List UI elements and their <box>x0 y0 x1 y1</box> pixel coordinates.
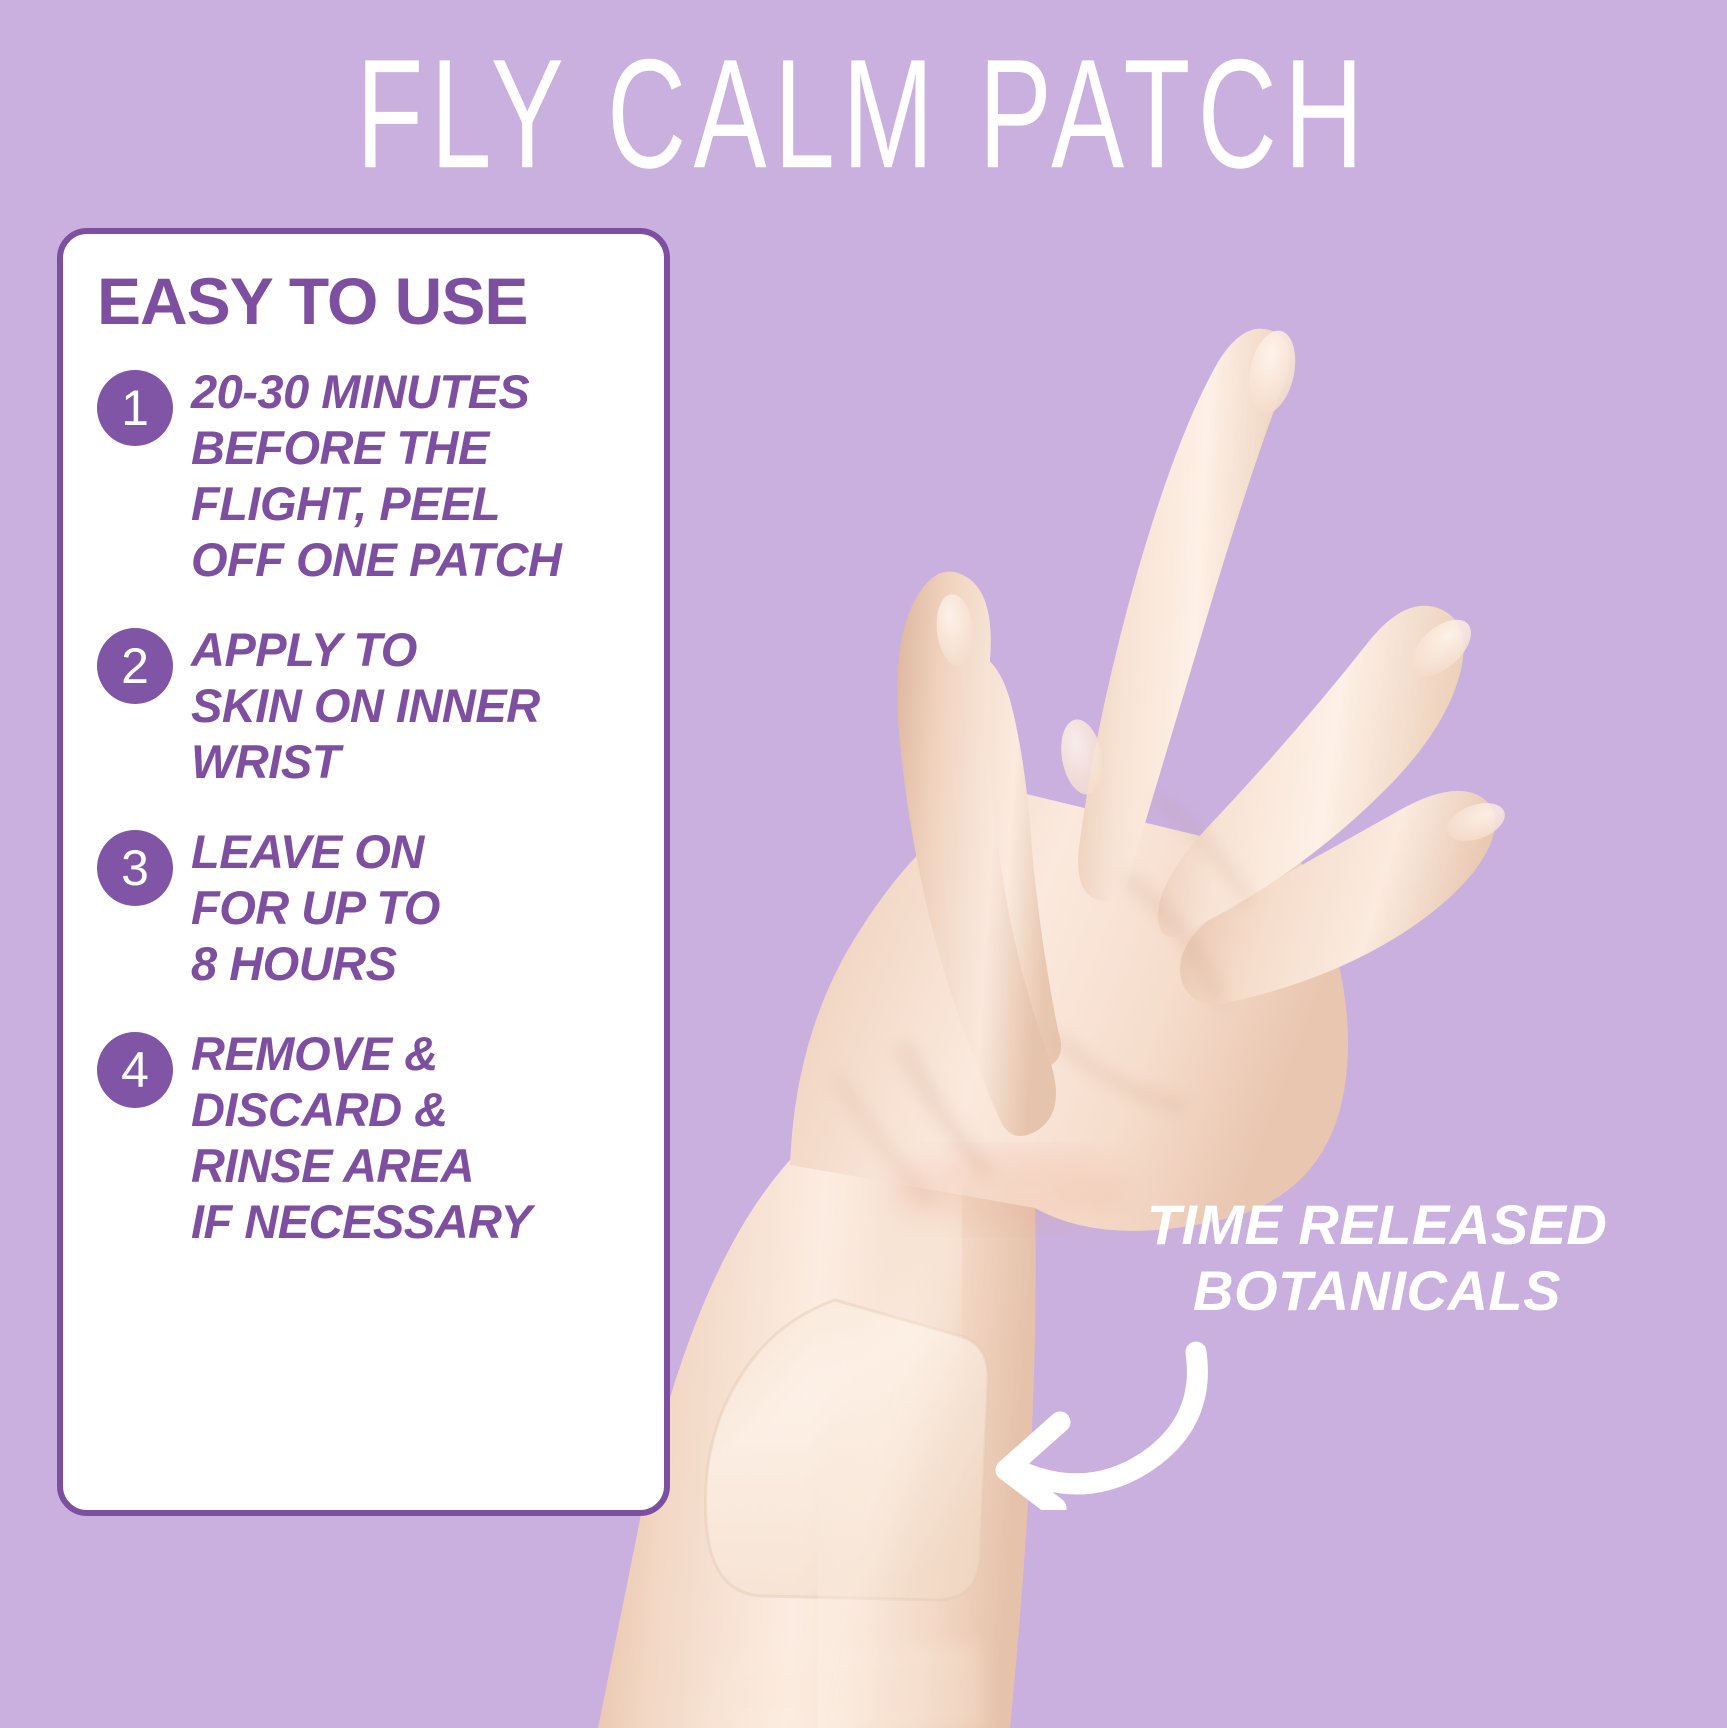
step-item-4: 4 REMOVE & DISCARD & RINSE AREA IF NECES… <box>97 1026 638 1250</box>
nail-pinky <box>1442 796 1510 848</box>
hand-shading <box>840 800 1248 1200</box>
step-text-1: 20-30 MINUTES BEFORE THE FLIGHT, PEEL OF… <box>191 364 561 588</box>
arm-highlight <box>830 1230 950 1728</box>
page-title: FLY CALM PATCH <box>225 36 1503 194</box>
step-item-1: 1 20-30 MINUTES BEFORE THE FLIGHT, PEEL … <box>97 364 638 588</box>
step-number-badge-2: 2 <box>97 628 173 704</box>
poster-root: FLY CALM PATCH EASY TO USE 1 20-30 MINUT… <box>0 0 1727 1728</box>
step-number-badge-3: 3 <box>97 830 173 906</box>
step-text-4: REMOVE & DISCARD & RINSE AREA IF NECESSA… <box>191 1026 532 1250</box>
wrist-patch <box>705 1300 988 1600</box>
curved-arrow-left-icon <box>960 1330 1220 1510</box>
step-item-2: 2 APPLY TO SKIN ON INNER WRIST <box>97 622 638 790</box>
thumb <box>897 572 1056 1137</box>
nail-ring <box>1401 609 1481 687</box>
step-number-badge-1: 1 <box>97 370 173 446</box>
step-text-3: LEAVE ON FOR UP TO 8 HOURS <box>191 824 440 992</box>
step-item-3: 3 LEAVE ON FOR UP TO 8 HOURS <box>97 824 638 992</box>
wrist-patch-lower <box>700 1640 985 1728</box>
instructions-card: EASY TO USE 1 20-30 MINUTES BEFORE THE F… <box>57 228 670 1516</box>
wrist-patch-edge <box>705 1300 988 1600</box>
index-finger <box>919 650 1061 1069</box>
palm <box>790 790 1348 1231</box>
ring-finger <box>1158 606 1464 937</box>
nail-middle <box>1242 326 1303 417</box>
card-heading: EASY TO USE <box>97 264 638 338</box>
nail-index <box>1056 716 1109 798</box>
step-text-2: APPLY TO SKIN ON INNER WRIST <box>191 622 540 790</box>
middle-finger <box>1078 329 1289 902</box>
botanicals-callout: TIME RELEASED BOTANICALS <box>1067 1192 1687 1324</box>
pinky-finger <box>1180 791 1495 1005</box>
step-number-badge-4: 4 <box>97 1032 173 1108</box>
nail-thumb <box>933 592 976 667</box>
